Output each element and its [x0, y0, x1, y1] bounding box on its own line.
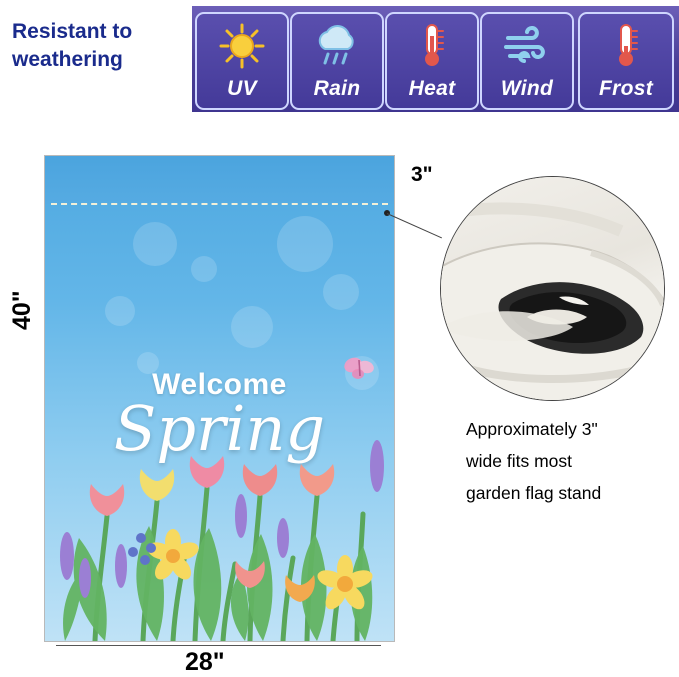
feature-chip-uv: UV	[195, 12, 289, 110]
flower-illustration	[45, 406, 394, 641]
banner-title-line1: Resistant to	[12, 20, 132, 43]
feature-chip-heat: Heat	[385, 12, 479, 110]
feature-chip-label: Heat	[387, 77, 477, 101]
width-dimension-line	[56, 645, 381, 646]
sleeve-dimension-label: 3"	[411, 163, 433, 187]
flag-pole-sleeve	[45, 156, 394, 204]
feature-chip-rain: Rain	[290, 12, 384, 110]
detail-caption-line3: garden flag stand	[466, 477, 676, 509]
detail-caption-line2: wide fits most	[466, 445, 676, 477]
wind-icon	[482, 20, 572, 72]
thermometer-cold-icon	[580, 20, 672, 72]
feature-chip-wind: Wind	[480, 12, 574, 110]
sun-icon	[197, 20, 287, 72]
feature-chip-label: Frost	[580, 77, 672, 101]
decorative-bokeh	[133, 222, 177, 266]
thermometer-hot-icon	[387, 20, 477, 72]
banner-title: Resistant to weathering	[12, 18, 187, 74]
sleeve-opening-illustration	[441, 177, 664, 400]
decorative-bokeh	[191, 256, 217, 282]
height-dimension-label: 40"	[8, 290, 37, 330]
feature-chip-label: Rain	[292, 77, 382, 101]
weather-resistance-banner: Resistant to weathering UV	[0, 0, 679, 118]
feature-chip-frost: Frost	[578, 12, 674, 110]
sleeve-stitch-line	[51, 203, 388, 205]
decorative-bokeh	[105, 296, 135, 326]
rain-cloud-icon	[292, 20, 382, 72]
feature-chip-label: UV	[197, 77, 287, 101]
width-dimension-label: 28"	[185, 648, 225, 677]
decorative-bokeh	[231, 306, 273, 348]
callout-line	[387, 213, 442, 238]
feature-chip-label: Wind	[482, 77, 572, 101]
detail-caption-line1: Approximately 3"	[466, 413, 676, 445]
decorative-bokeh	[277, 216, 333, 272]
banner-title-line2: weathering	[12, 46, 187, 74]
garden-flag-image: Welcome Spring	[44, 155, 395, 642]
detail-caption: Approximately 3" wide fits most garden f…	[466, 413, 676, 509]
decorative-bokeh	[323, 274, 359, 310]
sleeve-detail-circle	[440, 176, 665, 401]
